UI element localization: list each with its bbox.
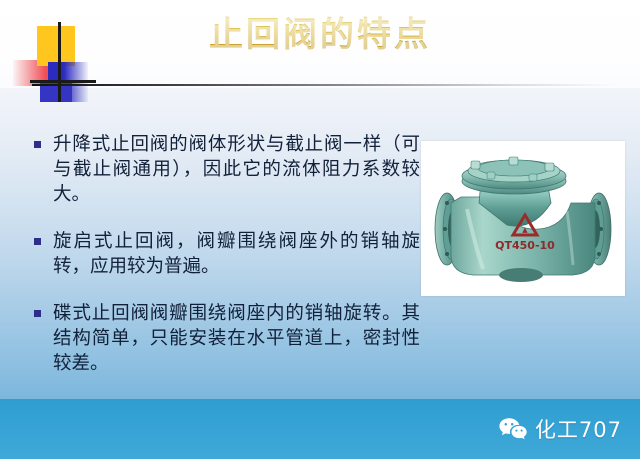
slide-title: 止回阀的特点 [0,13,640,57]
bullet-list: 升降式止回阀的阀体形状与截止阀一样（可与截止阀通用），因此它的流体阻力系数较大。… [34,132,420,398]
bullet-text: 旋启式止回阀，阀瓣围绕阀座外的销轴旋转，应用较为普遍。 [53,229,420,279]
bullet-text: 升降式止回阀的阀体形状与截止阀一样（可与截止阀通用），因此它的流体阻力系数较大。 [53,132,420,207]
check-valve-illustration: ▲ QT450-10 [421,141,625,296]
valve-marking-text: QT450-10 [495,239,555,252]
wechat-icon [498,416,528,442]
bullet-text: 碟式止回阀阀瓣围绕阀座内的销轴旋转。其结构简单，只能安装在水平管道上，密封性较差… [53,301,420,376]
square-bullet-icon [34,310,41,317]
list-item: 升降式止回阀的阀体形状与截止阀一样（可与截止阀通用），因此它的流体阻力系数较大。 [34,132,420,207]
brand-name: 化工707 [535,414,622,444]
list-item: 碟式止回阀阀瓣围绕阀座内的销轴旋转。其结构简单，只能安装在水平管道上，密封性较差… [34,301,420,376]
footer-bar: 化工707 [0,399,640,459]
square-bullet-icon [34,141,41,148]
square-bullet-icon [34,238,41,245]
brand-lockup: 化工707 [498,414,622,444]
title-underline [32,84,617,86]
slide-canvas: 止回阀的特点 升降式止回阀的阀体形状与截止阀一样（可与截止阀通用），因此它的流体… [0,0,640,459]
deco-horizontal-bar [30,80,96,83]
list-item: 旋启式止回阀，阀瓣围绕阀座外的销轴旋转，应用较为普遍。 [34,229,420,279]
svg-text:▲: ▲ [522,226,528,234]
check-valve-photo: ▲ QT450-10 [421,141,625,296]
